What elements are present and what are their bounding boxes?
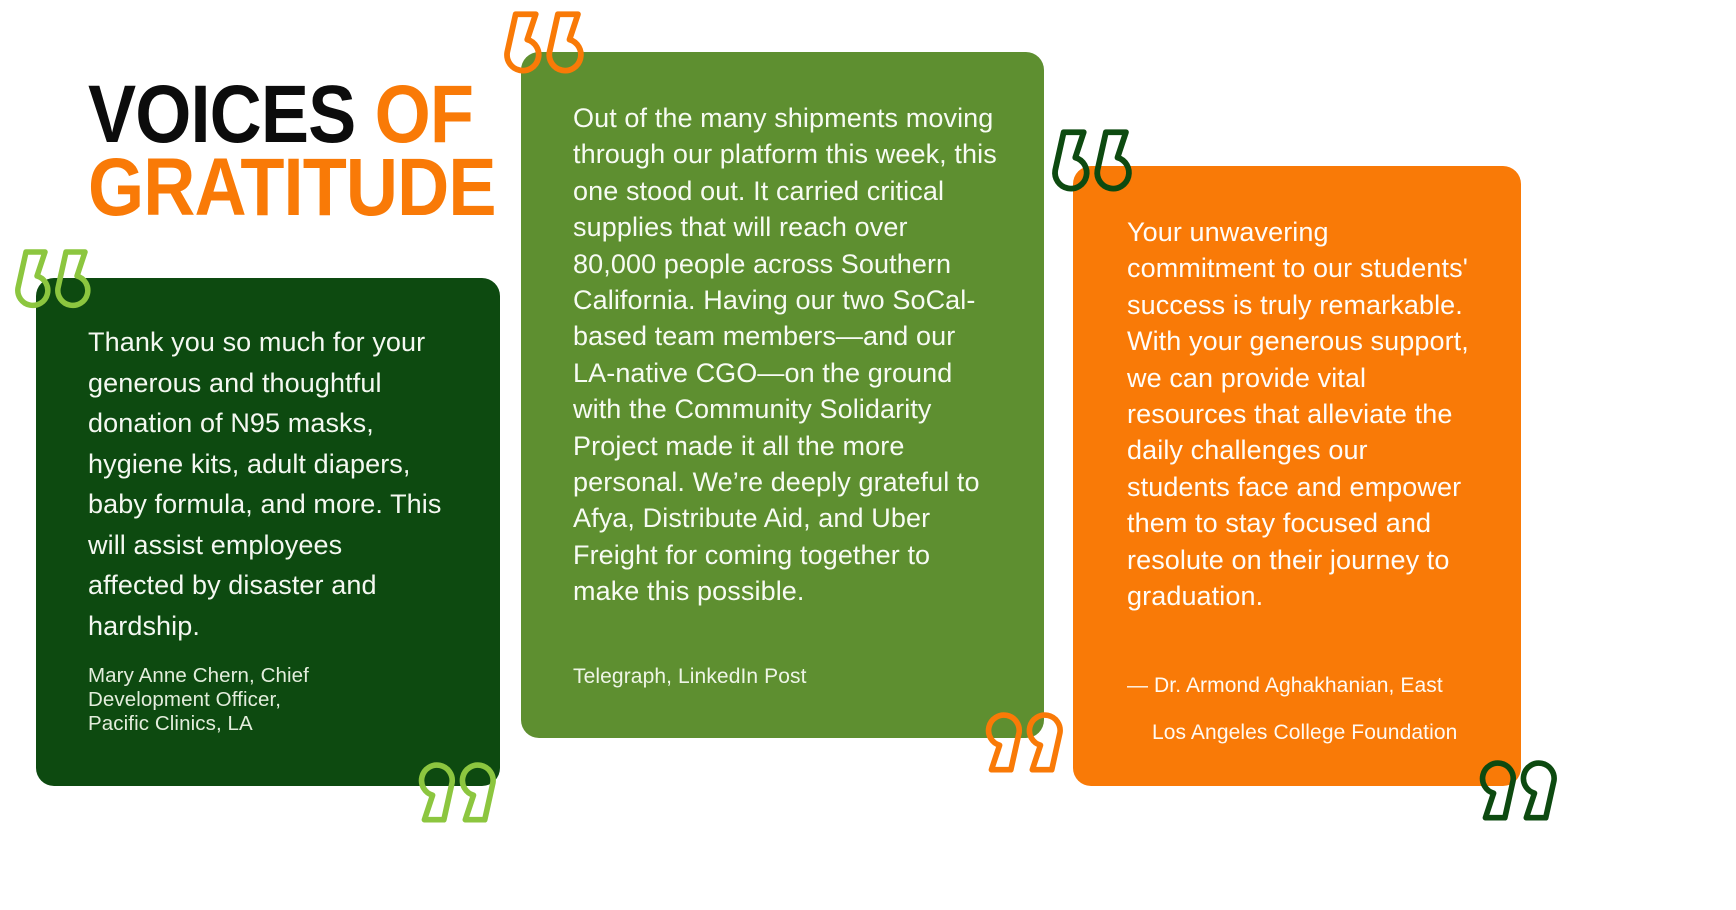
attribution-line: Development Officer, xyxy=(88,688,428,712)
attribution-line: Pacific Clinics, LA xyxy=(88,712,428,736)
page-title: VOICES OF GRATITUDE xyxy=(88,80,558,223)
quote-body-1: Thank you so much for your generous and … xyxy=(88,322,442,646)
quote-card-3: Your unwavering commitment to our studen… xyxy=(1073,166,1521,786)
title-line-one: VOICES OF xyxy=(88,80,502,151)
attribution-line: — Dr. Armond Aghakhanian, East xyxy=(1127,662,1499,709)
quote-body-2: Out of the many shipments moving through… xyxy=(573,100,998,610)
quote-attribution-3: — Dr. Armond Aghakhanian, East Los Angel… xyxy=(1127,662,1499,756)
title-word-gratitude: GRATITUDE xyxy=(88,153,502,224)
slide-canvas: VOICES OF GRATITUDE Thank you so much fo… xyxy=(0,0,1736,910)
quote-card-1: Thank you so much for your generous and … xyxy=(36,278,500,786)
quote-card-2: Out of the many shipments moving through… xyxy=(521,52,1044,738)
attribution-line: Mary Anne Chern, Chief xyxy=(88,664,428,688)
quote-body-3: Your unwavering commitment to our studen… xyxy=(1127,214,1477,614)
quote-attribution-2: Telegraph, LinkedIn Post xyxy=(573,664,973,690)
attribution-line: Los Angeles College Foundation xyxy=(1152,709,1457,756)
quote-attribution-1: Mary Anne Chern, Chief Development Offic… xyxy=(88,664,428,736)
